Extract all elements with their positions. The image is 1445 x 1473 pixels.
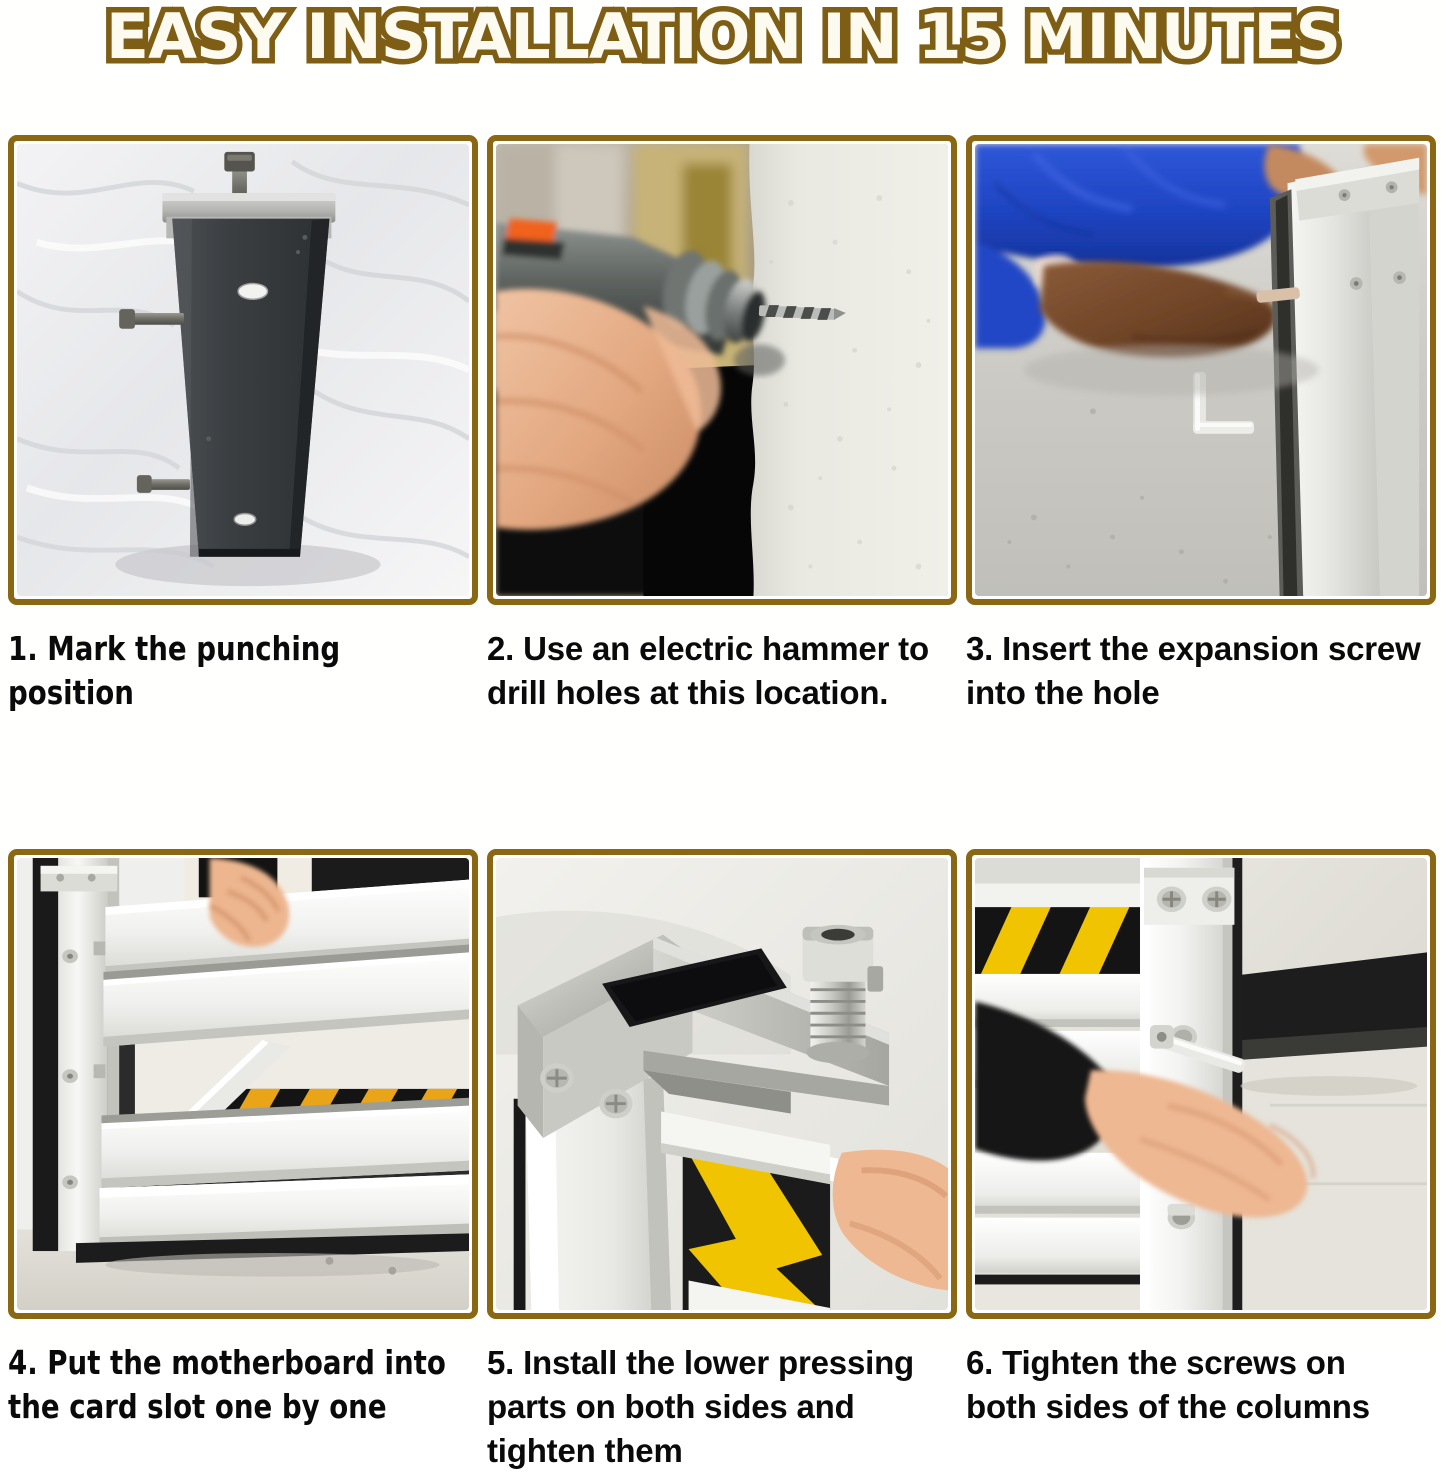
step-caption-3: 3. Insert the expansion screw into the h… — [966, 627, 1421, 715]
step-photo-frame-4 — [8, 849, 478, 1319]
step-card-1: 1. Mark the punching position — [8, 135, 478, 715]
step-caption-2: 2. Use an electric hammer to drill holes… — [487, 627, 942, 715]
steps-grid: 1. Mark the punching position — [8, 135, 1437, 1473]
step-card-3: 3. Insert the expansion screw into the h… — [966, 135, 1436, 715]
insert-boards-photo — [17, 858, 469, 1310]
step-card-4: 4. Put the motherboard into the card slo… — [8, 849, 478, 1473]
step-photo-frame-2 — [487, 135, 957, 605]
step-photo-frame-5 — [487, 849, 957, 1319]
drill-holes-photo — [496, 144, 948, 596]
step-caption-5: 5. Install the lower pressing parts on b… — [487, 1341, 942, 1473]
steps-row-top: 1. Mark the punching position — [8, 135, 1437, 715]
step-photo-frame-3 — [966, 135, 1436, 605]
lower-pressing-part-photo — [496, 858, 948, 1310]
page-title: EASY INSTALLATION IN 15 MINUTES — [105, 2, 1339, 72]
installation-instruction-infographic: EASY INSTALLATION IN 15 MINUTES — [0, 0, 1445, 1352]
insert-expansion-screw-photo — [975, 144, 1427, 596]
step-caption-1: 1. Mark the punching position — [8, 627, 464, 715]
page-title-banner: EASY INSTALLATION IN 15 MINUTES — [0, 0, 1445, 112]
step-card-6: 6. Tighten the screws on both sides of t… — [966, 849, 1436, 1473]
step-card-5: 5. Install the lower pressing parts on b… — [487, 849, 957, 1473]
step-caption-6: 6. Tighten the screws on both sides of t… — [966, 1341, 1421, 1429]
steps-row-bottom: 4. Put the motherboard into the card slo… — [8, 849, 1437, 1473]
step-caption-4: 4. Put the motherboard into the card slo… — [8, 1341, 464, 1429]
step-card-2: 2. Use an electric hammer to drill holes… — [487, 135, 957, 715]
mark-punching-position-photo — [17, 144, 469, 596]
step-photo-frame-6 — [966, 849, 1436, 1319]
step-photo-frame-1 — [8, 135, 478, 605]
tighten-column-screws-photo — [975, 858, 1427, 1310]
